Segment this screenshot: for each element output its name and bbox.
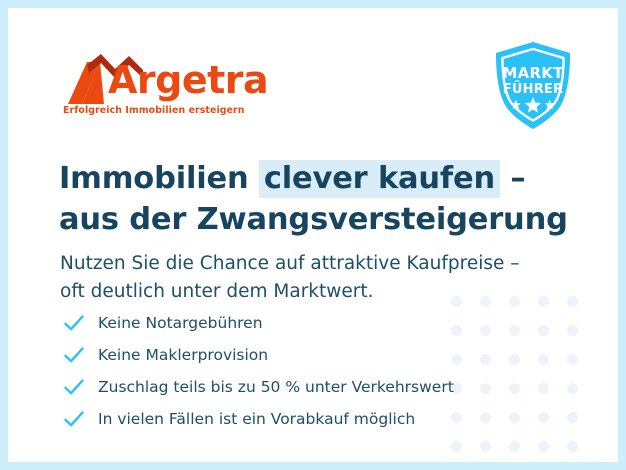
list-item: In vielen Fällen ist ein Vorabkauf mögli…	[62, 403, 582, 435]
argetra-logo[interactable]: Argetra Erfolgreich Immobilien ersteiger…	[60, 52, 260, 124]
headline-text-post: –	[500, 161, 525, 196]
check-icon	[62, 375, 86, 399]
decorative-dot	[451, 441, 462, 452]
list-item: Zuschlag teils bis zu 50 % unter Verkehr…	[62, 371, 582, 403]
headline-line-2: aus der Zwangsversteigerung	[59, 200, 559, 240]
check-icon	[62, 407, 86, 431]
headline-line-1: Immobilien clever kaufen –	[59, 159, 559, 199]
headline: Immobilien clever kaufen – aus der Zwang…	[59, 159, 559, 240]
decorative-dot	[567, 441, 578, 452]
subtitle-line-2: oft deutlich unter dem Marktwert.	[60, 278, 580, 307]
decorative-dot	[538, 441, 549, 452]
headline-text-pre: Immobilien	[59, 161, 259, 196]
subtitle: Nutzen Sie die Chance auf attraktive Kau…	[60, 250, 580, 307]
headline-highlight: clever kaufen	[259, 160, 500, 198]
benefits-checklist: Keine Notargebühren Keine Maklerprovisio…	[62, 307, 582, 435]
list-item-label: In vielen Fällen ist ein Vorabkauf mögli…	[98, 410, 415, 428]
badge-line-2: FÜHRER	[503, 81, 563, 97]
list-item-label: Keine Notargebühren	[98, 314, 263, 332]
list-item-label: Keine Maklerprovision	[98, 346, 268, 364]
decorative-dot	[480, 441, 491, 452]
check-icon	[62, 311, 86, 335]
decorative-dot	[509, 441, 520, 452]
shield-icon: MARKT FÜHRER	[490, 40, 576, 132]
subtitle-line-1: Nutzen Sie die Chance auf attraktive Kau…	[60, 250, 580, 279]
market-leader-badge: MARKT FÜHRER	[490, 40, 576, 132]
list-item-label: Zuschlag teils bis zu 50 % unter Verkehr…	[98, 378, 454, 396]
list-item: Keine Maklerprovision	[62, 339, 582, 371]
logo-wordmark: Argetra	[108, 61, 268, 99]
check-icon	[62, 343, 86, 367]
promo-banner: Argetra Erfolgreich Immobilien ersteiger…	[0, 0, 626, 470]
badge-line-1: MARKT	[503, 64, 565, 82]
list-item: Keine Notargebühren	[62, 307, 582, 339]
logo-tagline: Erfolgreich Immobilien ersteigern	[63, 105, 245, 116]
